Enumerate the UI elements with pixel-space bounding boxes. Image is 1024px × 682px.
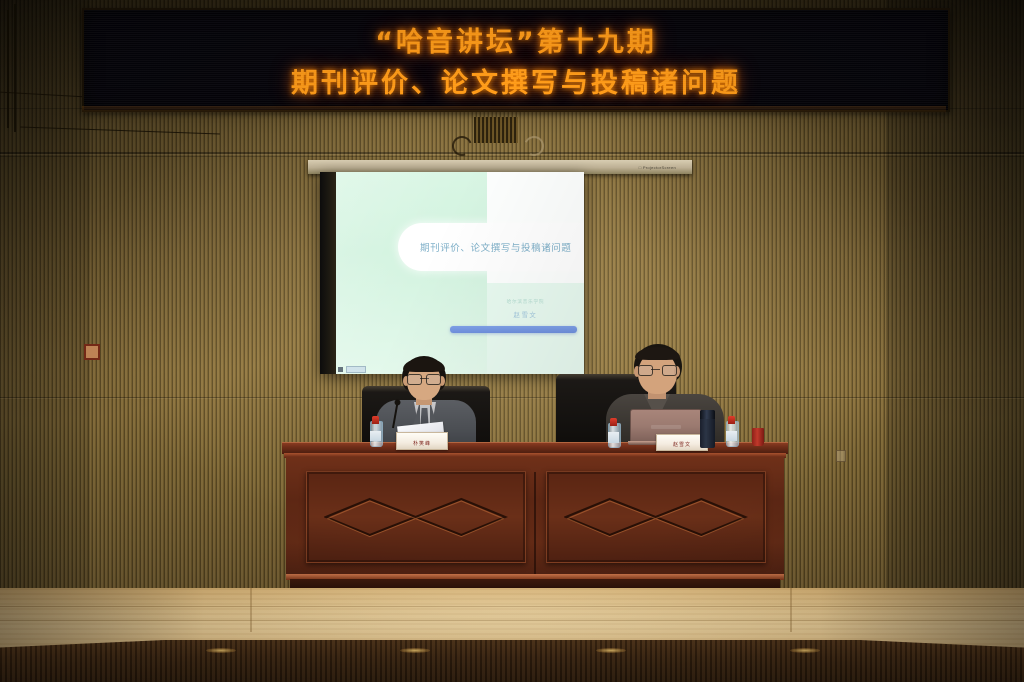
water-bottle-right <box>726 416 737 447</box>
slide-title-text: 期刊评价、论文撰写与投稿诸问题 <box>420 240 572 254</box>
floor-seam-3 <box>250 588 252 632</box>
slide-accent-bar <box>450 326 576 333</box>
head-table <box>286 442 784 590</box>
led-banner-line-2: 期刊评价、论文撰写与投稿诸问题 <box>291 61 741 100</box>
desk-panel-left-carving <box>324 495 507 539</box>
desk-front-body <box>286 457 784 579</box>
nameplate-right-text: 赵雪文 <box>673 441 691 450</box>
step-light-3 <box>596 648 626 653</box>
hanging-cable-vertical <box>14 4 16 132</box>
slide-subtitle-name: 赵雪文 <box>507 310 545 319</box>
bottle-cap-center <box>610 418 618 426</box>
slide-subtitle-org: 哈尔滨音乐学院 <box>507 299 545 305</box>
step-light-2 <box>400 648 430 653</box>
nameplate-left-text: 朴笑峰 <box>413 440 431 449</box>
thermos-flask <box>700 410 715 448</box>
nameplate-left: 朴笑峰 <box>396 432 448 450</box>
step-light-1 <box>206 648 236 653</box>
screen-left-shadow-band <box>320 172 336 374</box>
wall-vent-grille <box>474 117 518 143</box>
bottle-cap-right <box>728 416 736 424</box>
floor-seam-1 <box>0 606 1024 607</box>
laptop-badge-icon <box>651 425 681 429</box>
desk-panel-left <box>306 471 526 563</box>
water-bottle-center <box>608 418 619 448</box>
step-light-4 <box>790 648 820 653</box>
wall-seam-rail <box>0 152 1024 154</box>
speaker-right-glasses-icon <box>638 365 677 375</box>
desk-panel-right <box>546 471 766 563</box>
wall-switch-plate <box>836 450 846 462</box>
lecture-hall-scene: “哈音讲坛”第十九期 期刊评价、论文撰写与投稿诸问题 □ ProjectorSc… <box>0 0 1024 682</box>
floor-seam-2 <box>0 620 1024 621</box>
thermos-cap <box>700 410 715 419</box>
speaker-left-glasses-icon <box>407 374 441 383</box>
hanging-cable-vertical-2 <box>7 10 9 128</box>
wall-seam-lower <box>0 397 1024 398</box>
speaker-left-fringe <box>403 358 445 372</box>
projector-screen-frame: 期刊评价、论文撰写与投稿诸问题 哈尔滨音乐学院 赵雪文 <box>320 172 584 374</box>
taskbar-window-button <box>346 366 366 373</box>
bottle-cap-left <box>372 416 380 424</box>
red-cup <box>752 428 764 446</box>
taskbar-start-icon <box>338 367 343 372</box>
slide-title-pill: 期刊评价、论文撰写与投稿诸问题 <box>398 223 584 271</box>
projector-screen-surface: 期刊评价、论文撰写与投稿诸问题 哈尔滨音乐学院 赵雪文 <box>336 172 584 374</box>
slide-green-block <box>336 172 487 374</box>
desk-panel-right-carving <box>564 495 747 539</box>
water-bottle-left <box>370 416 381 447</box>
wall-outlet-plate <box>84 344 100 360</box>
stage-front-edge-texture <box>0 640 1024 682</box>
wall-seam-rail-shadow <box>0 156 1024 157</box>
slide-subtitle-group: 哈尔滨音乐学院 赵雪文 <box>507 299 545 319</box>
floor-seam-4 <box>790 588 792 632</box>
led-banner-line-1: “哈音讲坛”第十九期 <box>375 20 657 59</box>
led-banner: “哈音讲坛”第十九期 期刊评价、论文撰写与投稿诸问题 <box>82 8 950 112</box>
screen-brand-label: □ ProjectorScreen <box>639 165 676 170</box>
